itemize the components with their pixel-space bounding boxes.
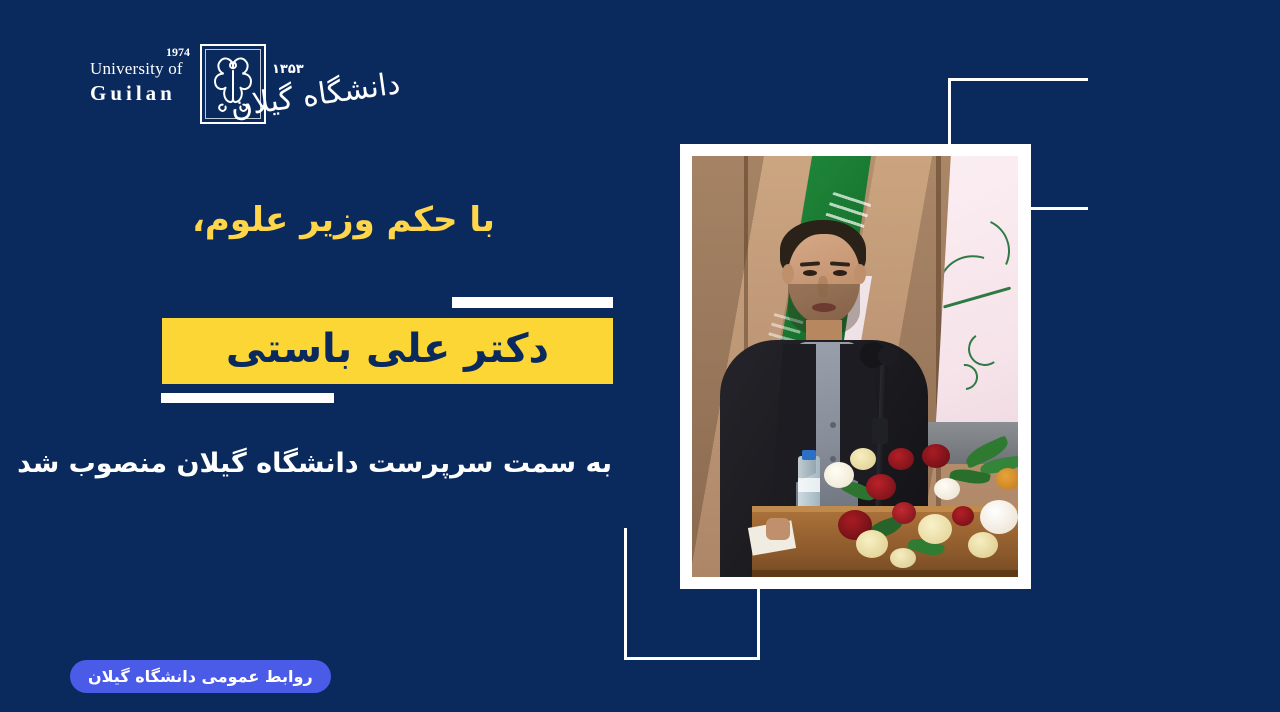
photo-subject-ear [782, 264, 794, 284]
photo-yellow-flower [968, 532, 998, 558]
name-banner-text: دکتر علی باستی [226, 329, 549, 373]
photo-yellow-flower [918, 514, 952, 544]
logo-english-name: University of Guilan [90, 58, 190, 106]
announcement-poster: University of Guilan 1974 ۱۳۵۳ دانشگ [0, 0, 1280, 712]
speaker-photo [692, 156, 1018, 577]
photo-white-rose [824, 462, 854, 488]
decor-bar-bottom [161, 393, 334, 403]
photo-shirt-button [830, 422, 836, 428]
logo-year-gregorian: 1974 [166, 45, 190, 60]
photo-microphone-clip [872, 418, 888, 444]
photo-orange-flower [996, 468, 1018, 490]
photo-red-rose [888, 448, 914, 470]
photo-yellow-flower [890, 548, 916, 568]
subline-text: به سمت سرپرست دانشگاه گیلان منصوب شد [92, 448, 612, 479]
photo-subject-nose [818, 276, 828, 298]
logo-persian-name-wrap: دانشگاه گیلان [266, 48, 400, 128]
public-relations-badge-label: روابط عمومی دانشگاه گیلان [88, 667, 313, 686]
photo-subject-ear [854, 264, 866, 284]
photo-bottle-cap [802, 450, 816, 460]
photo-flower-bouquet [830, 444, 1018, 570]
photo-white-rose [980, 500, 1018, 534]
photo-yellow-flower [856, 530, 888, 558]
photo-bottle-label [798, 478, 820, 492]
photo-subject-mouth [812, 303, 836, 312]
photo-podium-edge [752, 570, 1018, 577]
name-banner: دکتر علی باستی [162, 318, 613, 384]
logo-english-line2: Guilan [90, 80, 190, 106]
logo-english-line1: University of [90, 58, 190, 80]
photo-white-rose [934, 478, 960, 500]
photo-microphone-head [878, 346, 898, 366]
photo-yellow-flower [850, 448, 876, 470]
photo-frame [680, 144, 1031, 589]
photo-subject-hand [766, 518, 790, 540]
photo-red-rose [866, 474, 896, 500]
photo-red-rose [892, 502, 916, 524]
photo-subject-eye [803, 270, 817, 276]
university-logo[interactable]: University of Guilan 1974 ۱۳۵۳ دانشگ [90, 40, 400, 140]
photo-red-rose [952, 506, 974, 526]
public-relations-badge[interactable]: روابط عمومی دانشگاه گیلان [70, 660, 331, 693]
decor-bar-top [452, 297, 613, 308]
photo-red-rose [922, 444, 950, 468]
photo-subject-eye [833, 270, 847, 276]
kicker-text: با حکم وزیر علوم، [192, 200, 612, 240]
